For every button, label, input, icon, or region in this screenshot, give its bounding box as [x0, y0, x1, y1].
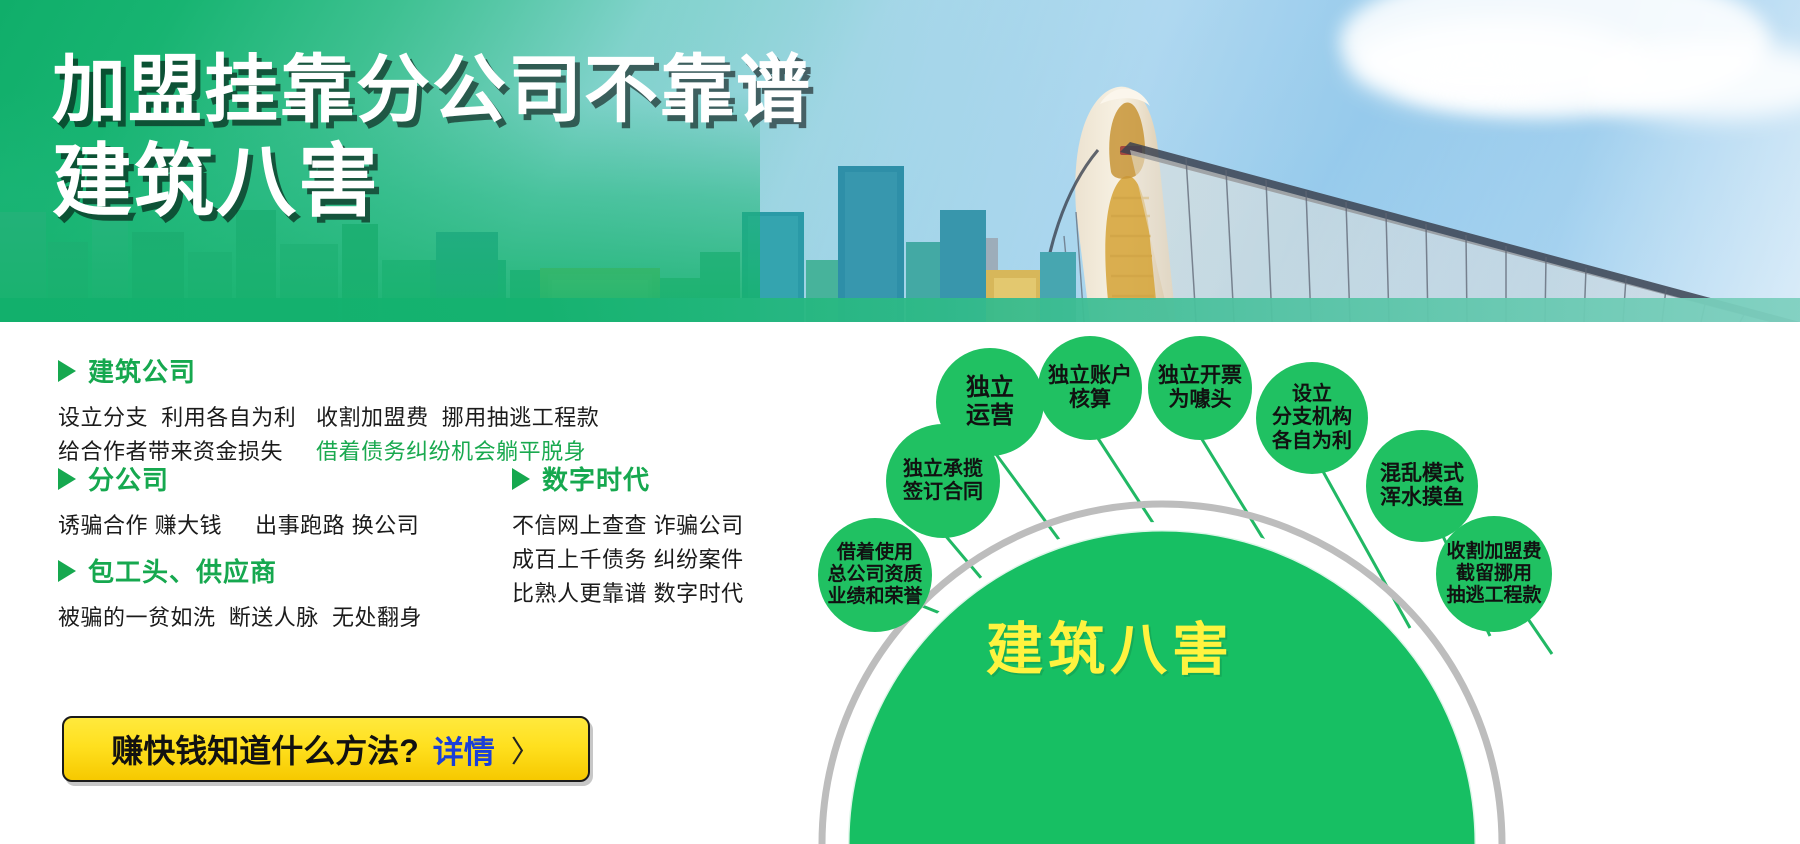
bubble-independent-account[interactable]: 独立账户 核算: [1038, 336, 1142, 440]
section-body-line1: 被骗的一贫如洗 断送人脉 无处翻身: [58, 602, 422, 634]
section-body-line2: 成百上千债务 纠纷案件: [512, 544, 744, 576]
triangle-bullet-icon: [58, 560, 76, 582]
bubble-text: 设立 分支机构 各自为利: [1272, 383, 1352, 453]
cta-label: 赚快钱知道什么方法?: [111, 726, 419, 772]
diagram-panel: 建筑八害 借着使用 总公司资质 业绩和荣誉 独立承揽 签订合同 独立 运营 独立…: [800, 336, 1800, 844]
bubble-harvest-franchise-fees[interactable]: 收割加盟费 截留挪用 抽逃工程款: [1436, 516, 1552, 632]
bubble-text: 收割加盟费 截留挪用 抽逃工程款: [1446, 541, 1541, 607]
bubble-line: 核算: [1048, 388, 1132, 412]
section-header: 包工头、供应商: [58, 552, 422, 589]
section-title: 建筑公司: [88, 352, 196, 389]
section-branch-company: 分公司 诱骗合作 赚大钱 出事跑路 换公司: [58, 460, 419, 542]
section-body-line1: 诱骗合作 赚大钱 出事跑路 换公司: [58, 510, 419, 542]
ground-strip: [0, 298, 1800, 322]
bubble-text: 借着使用 总公司资质 业绩和荣誉: [827, 542, 922, 608]
bubble-text: 独立账户 核算: [1048, 364, 1132, 413]
bubble-text: 独立开票 为噱头: [1158, 364, 1242, 413]
bubble-line: 总公司资质: [827, 564, 922, 586]
left-content: 建筑公司 设立分支 利用各自为利 收割加盟费 挪用抽逃工程款 给合作者带来资金损…: [0, 336, 800, 844]
chevron-right-icon: 〉: [511, 727, 541, 771]
section-title: 分公司: [88, 460, 169, 497]
bubble-use-hq-credentials[interactable]: 借着使用 总公司资质 业绩和荣誉: [818, 518, 932, 632]
hero-banner: 加盟挂靠分公司不靠谱 建筑八害: [0, 0, 1800, 322]
bubble-line: 独立承揽: [903, 458, 983, 481]
section-header: 分公司: [58, 460, 419, 497]
bubble-line: 收割加盟费: [1446, 541, 1541, 563]
section-title: 数字时代: [542, 460, 650, 497]
hero-title-line1: 加盟挂靠分公司不靠谱: [52, 52, 812, 127]
cta-button[interactable]: 赚快钱知道什么方法? 详情 〉: [62, 716, 590, 782]
bubble-text: 混乱模式 浑水摸鱼: [1380, 462, 1464, 511]
section-construction-company: 建筑公司 设立分支 利用各自为利 收割加盟费 挪用抽逃工程款 给合作者带来资金损…: [58, 352, 599, 468]
section-body-line3: 比熟人更靠谱 数字时代: [512, 578, 744, 610]
section-digital-era: 数字时代 不信网上查查 诈骗公司 成百上千债务 纠纷案件 比熟人更靠谱 数字时代: [512, 460, 744, 610]
section-body-line1: 不信网上查查 诈骗公司: [512, 510, 744, 542]
bubble-line: 分支机构: [1272, 406, 1352, 429]
bubble-line: 抽逃工程款: [1446, 585, 1541, 607]
bubble-independent-operation[interactable]: 独立 运营: [936, 348, 1044, 456]
triangle-bullet-icon: [512, 468, 530, 490]
section-title: 包工头、供应商: [88, 552, 277, 589]
bubble-set-up-branches[interactable]: 设立 分支机构 各自为利: [1256, 362, 1368, 474]
poster-root: 加盟挂靠分公司不靠谱 建筑八害 建筑公司 设立分支 利用各自为利 收割加盟费 挪…: [0, 0, 1800, 844]
hero-title-line2: 建筑八害: [52, 141, 812, 223]
bubble-line: 业绩和荣誉: [827, 586, 922, 608]
bubble-text: 独立承揽 签订合同: [903, 458, 983, 504]
bubble-line: 借着使用: [827, 542, 922, 564]
bubble-line: 运营: [966, 402, 1014, 430]
bubble-independent-invoicing[interactable]: 独立开票 为噱头: [1148, 336, 1252, 440]
triangle-bullet-icon: [58, 360, 76, 382]
bubble-line: 签订合同: [903, 481, 983, 504]
cta-detail-link[interactable]: 详情: [433, 727, 495, 772]
section-header: 建筑公司: [58, 352, 599, 389]
bubble-text: 独立 运营: [966, 374, 1014, 430]
dome-center-label: 建筑八害: [986, 604, 1234, 686]
bubble-line: 为噱头: [1158, 388, 1242, 412]
bubble-line: 独立开票: [1158, 364, 1242, 388]
section-body-line1: 设立分支 利用各自为利 收割加盟费 挪用抽逃工程款: [58, 402, 599, 434]
bubble-line: 混乱模式: [1380, 462, 1464, 486]
hero-divider: [0, 322, 1800, 336]
bubble-line: 独立: [966, 374, 1014, 402]
bubble-line: 各自为利: [1272, 430, 1352, 453]
hero-title: 加盟挂靠分公司不靠谱 建筑八害: [52, 52, 812, 223]
section-contractor-supplier: 包工头、供应商 被骗的一贫如洗 断送人脉 无处翻身: [58, 552, 422, 634]
bubble-line: 独立账户: [1048, 364, 1132, 388]
bubble-line: 截留挪用: [1446, 563, 1541, 585]
bubble-line: 浑水摸鱼: [1380, 486, 1464, 510]
bubble-line: 设立: [1272, 383, 1352, 406]
section-header: 数字时代: [512, 460, 744, 497]
triangle-bullet-icon: [58, 468, 76, 490]
